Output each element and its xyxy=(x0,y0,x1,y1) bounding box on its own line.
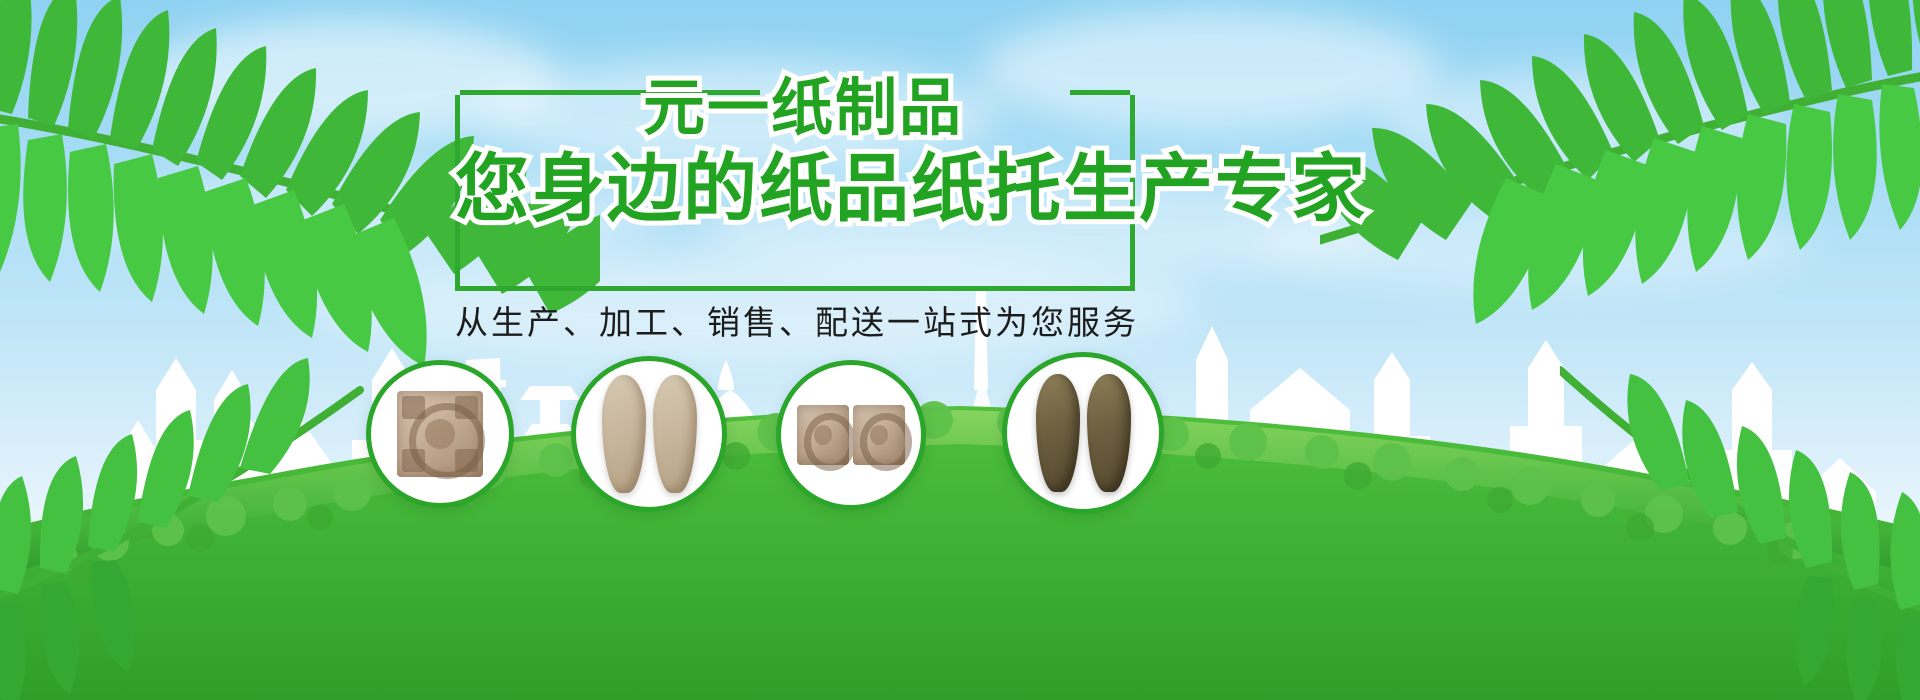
molded-pulp-insole-pair-light xyxy=(602,375,697,493)
product-circle-row xyxy=(0,0,1920,700)
insole-right xyxy=(653,375,697,493)
product-circle-molded-pulp-insole-pair-dark[interactable] xyxy=(1002,352,1164,514)
tray-corner xyxy=(455,396,477,418)
product-circle-molded-pulp-insole-pair-light[interactable] xyxy=(571,356,727,512)
product-circle-molded-pulp-double-tray[interactable] xyxy=(776,360,926,510)
insole-left xyxy=(602,375,646,493)
tray-half-right xyxy=(853,405,905,465)
molded-pulp-square-tray xyxy=(397,391,483,477)
tray-corner xyxy=(402,449,424,471)
insole-right xyxy=(1087,374,1131,492)
product-circle-molded-pulp-square-tray[interactable] xyxy=(366,360,514,508)
insole-left xyxy=(1036,374,1080,492)
molded-pulp-insole-pair-dark xyxy=(1036,374,1131,492)
tray-half-left xyxy=(797,405,849,465)
molded-pulp-double-tray xyxy=(797,405,905,465)
tray-corner xyxy=(402,396,424,418)
tray-corner xyxy=(455,449,477,471)
promo-banner: 元一纸制品 您身边的纸品纸托生产专家 从生产、加工、销售、配送一站式为您服务 xyxy=(0,0,1920,700)
